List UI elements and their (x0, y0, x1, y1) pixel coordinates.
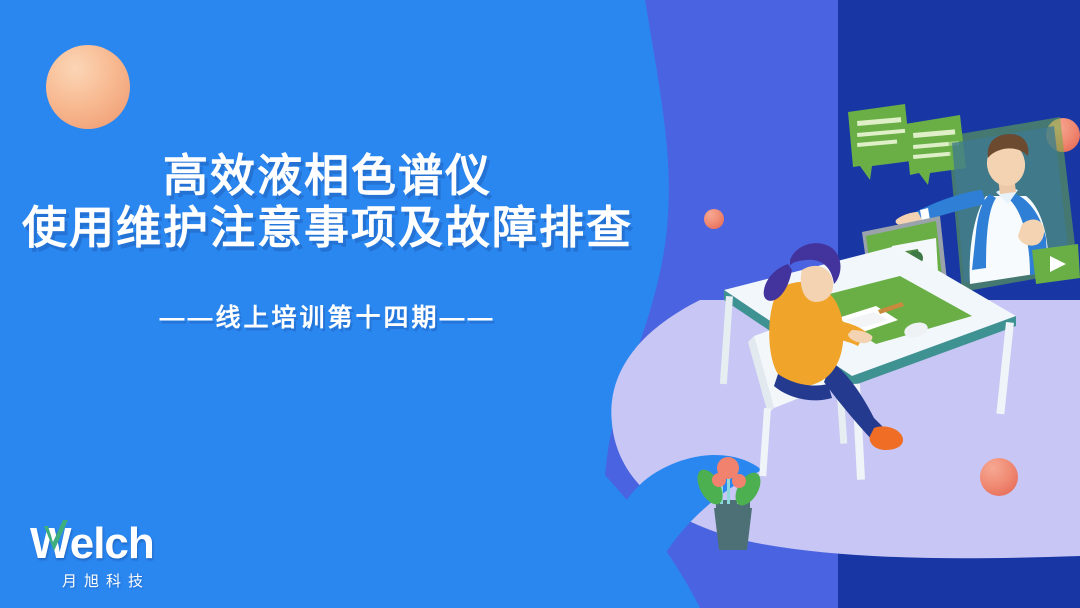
brand-logo: Welch 月旭科技 (30, 522, 154, 591)
logo-chinese-name: 月旭科技 (62, 570, 154, 591)
desk-leg (720, 296, 733, 384)
check-mark-icon (38, 518, 72, 560)
subtitle: ——线上培训第十四期—— (0, 298, 655, 334)
potted-plant (692, 457, 765, 550)
title-line-1: 高效液相色谱仪 (0, 150, 655, 202)
title-line-2: 使用维护注意事项及故障排查 (0, 202, 655, 254)
poster-canvas: 高效液相色谱仪 使用维护注意事项及故障排查 ——线上培训第十四期—— Welch… (0, 0, 1080, 608)
title-block: 高效液相色谱仪 使用维护注意事项及故障排查 ——线上培训第十四期—— (0, 150, 655, 334)
logo-wordmark-text: Welch (30, 522, 154, 566)
flower (712, 473, 726, 487)
chat-bubble-left (848, 104, 911, 180)
desk-leg (996, 322, 1014, 414)
flower (732, 474, 746, 488)
